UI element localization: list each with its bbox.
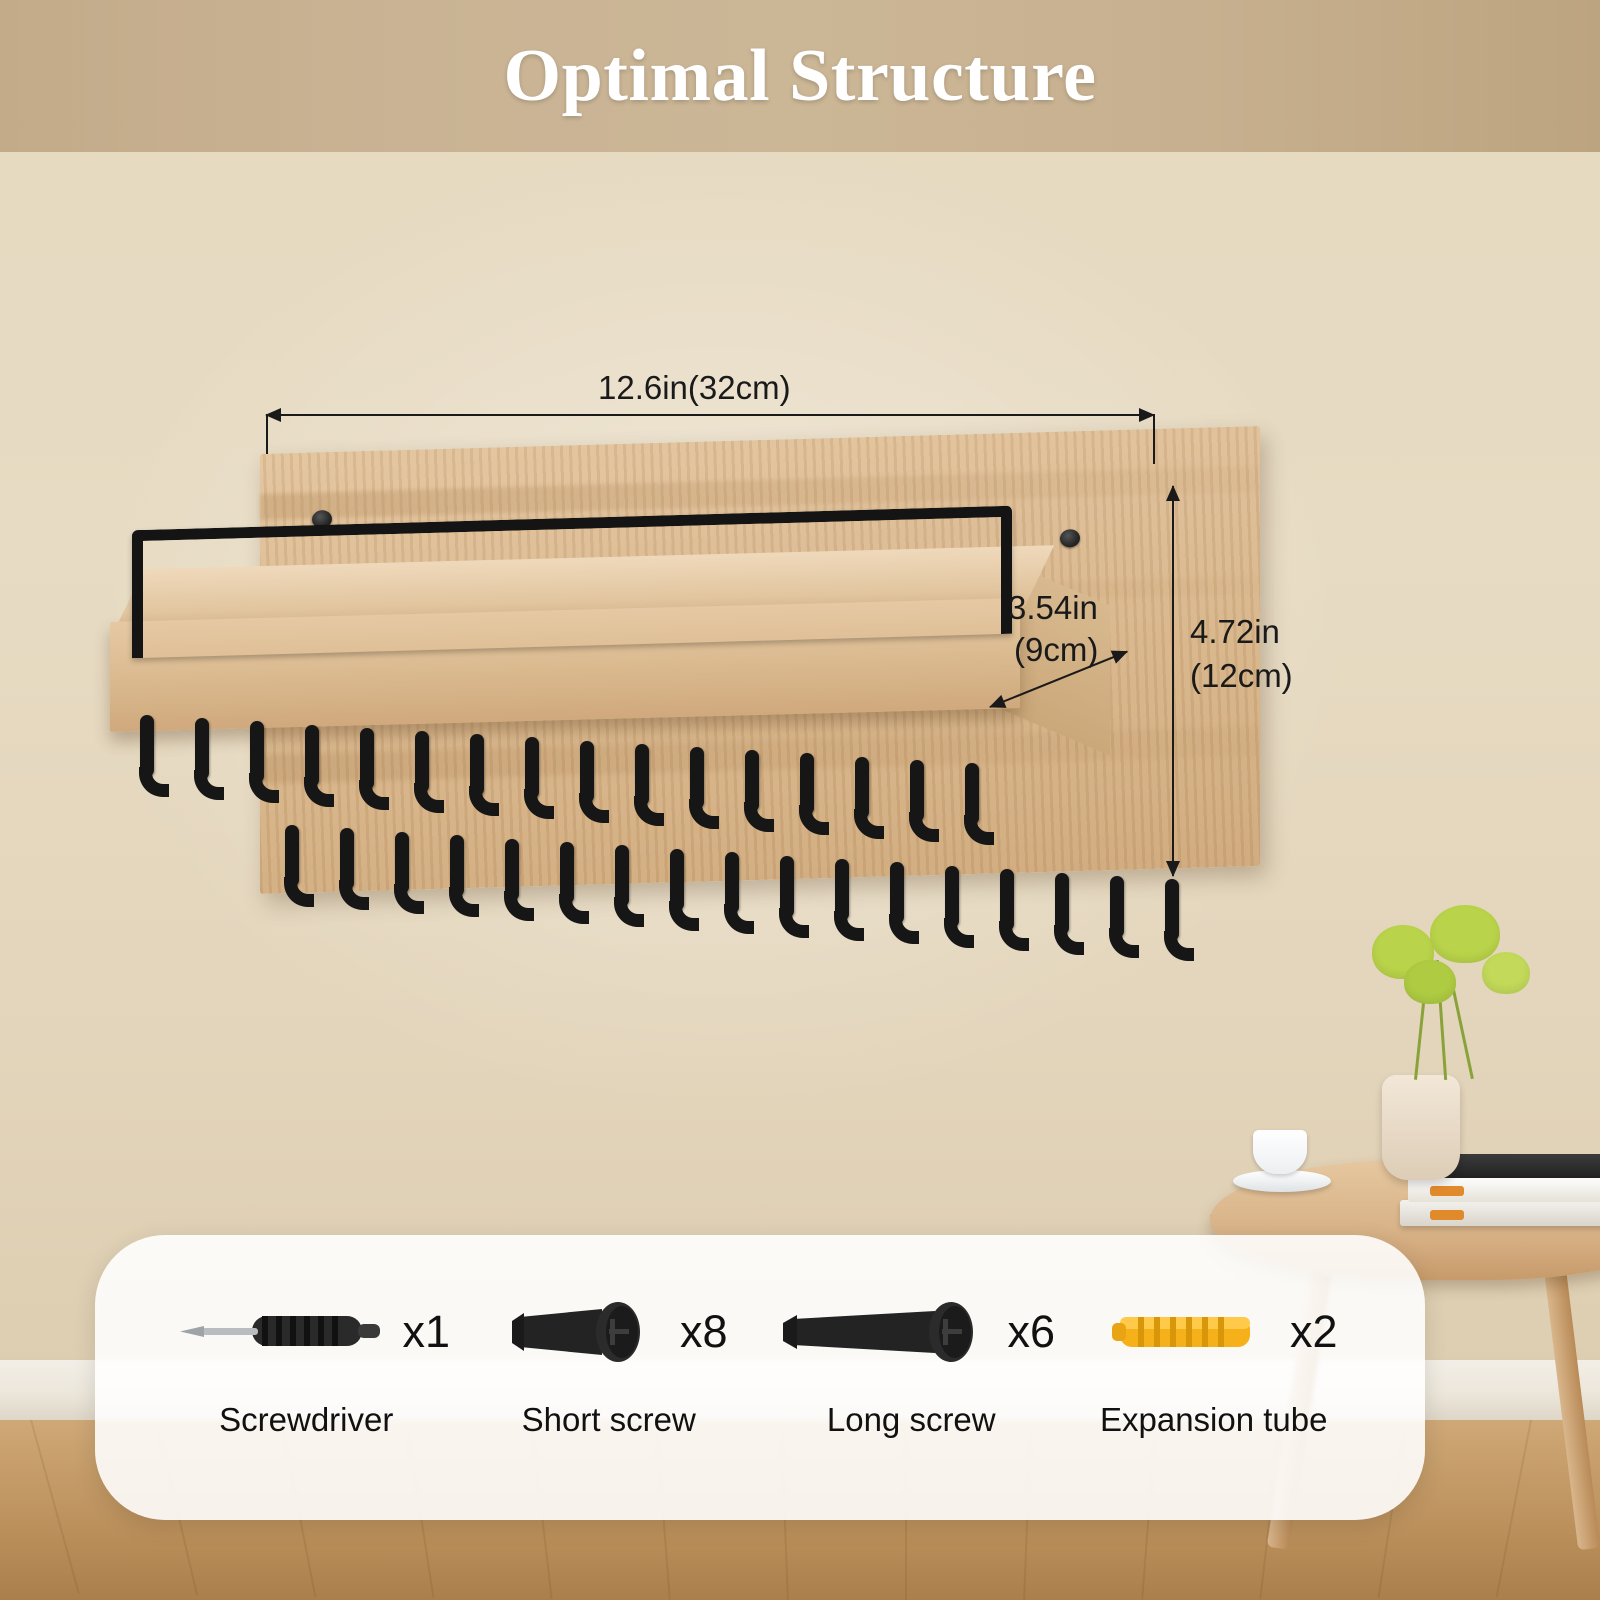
hook-upper bbox=[910, 760, 924, 822]
accessory-expansion-tube-qty: x2 bbox=[1290, 1306, 1338, 1358]
hook-lower bbox=[780, 856, 794, 918]
plant-vase bbox=[1382, 1075, 1460, 1180]
accessory-short-screw-qty: x8 bbox=[680, 1306, 728, 1358]
hook-lower bbox=[670, 849, 684, 911]
dimension-height-arrow bbox=[1172, 486, 1174, 876]
accessory-short-screw: x8 Short screw bbox=[458, 1277, 761, 1439]
dimension-width-arrow bbox=[266, 414, 1154, 416]
hook-lower bbox=[890, 862, 904, 924]
hook-lower bbox=[560, 842, 574, 904]
height-tick-top bbox=[1172, 486, 1174, 488]
accessory-screwdriver-qty: x1 bbox=[402, 1306, 450, 1358]
hook-upper bbox=[745, 750, 759, 812]
accessory-expansion-tube-visual: x2 bbox=[1063, 1277, 1366, 1387]
hook-lower bbox=[725, 852, 739, 914]
hook-lower bbox=[285, 825, 299, 887]
accessory-long-screw-visual: x6 bbox=[760, 1277, 1063, 1387]
header-banner: Optimal Structure bbox=[0, 0, 1600, 152]
hook-lower bbox=[1110, 876, 1124, 938]
hook-lower bbox=[1055, 873, 1069, 935]
hook-upper bbox=[690, 747, 704, 809]
plant-leaf-4 bbox=[1482, 952, 1530, 994]
accessory-short-screw-label: Short screw bbox=[522, 1401, 696, 1439]
accessory-expansion-tube: x2 Expansion tube bbox=[1063, 1277, 1366, 1439]
width-tick-left bbox=[266, 414, 268, 454]
book-accent-stripe bbox=[1430, 1186, 1464, 1196]
hook-lower bbox=[395, 832, 409, 894]
accessory-expansion-tube-label: Expansion tube bbox=[1100, 1401, 1328, 1439]
short-screw-icon bbox=[490, 1297, 670, 1367]
hook-upper bbox=[195, 718, 209, 780]
hook-upper bbox=[360, 728, 374, 790]
hook-upper bbox=[250, 721, 264, 783]
dimension-width-label: 12.6in(32cm) bbox=[598, 368, 791, 408]
hook-lower bbox=[505, 839, 519, 901]
hook-lower bbox=[1000, 869, 1014, 931]
hook-upper bbox=[525, 737, 539, 799]
hook-upper bbox=[800, 753, 814, 815]
plant-leaf-3 bbox=[1404, 960, 1456, 1004]
hook-upper bbox=[415, 731, 429, 793]
accessories-panel: x1 Screwdriver x8 Short screw bbox=[95, 1235, 1425, 1520]
hook-lower bbox=[945, 866, 959, 928]
dimension-height-label-line1: 4.72in bbox=[1190, 612, 1280, 652]
hook-upper bbox=[580, 741, 594, 803]
product-illustration bbox=[110, 430, 1200, 990]
accessory-screwdriver: x1 Screwdriver bbox=[155, 1277, 458, 1439]
accessory-long-screw-label: Long screw bbox=[827, 1401, 996, 1439]
dimension-depth-label-line1: 3.54in bbox=[1008, 588, 1098, 628]
mounting-screw-right bbox=[1060, 529, 1080, 548]
hook-upper bbox=[855, 757, 869, 819]
wood-grain-3 bbox=[260, 726, 1260, 784]
accessory-short-screw-visual: x8 bbox=[458, 1277, 761, 1387]
hook-lower bbox=[835, 859, 849, 921]
accessory-long-screw: x6 Long screw bbox=[760, 1277, 1063, 1439]
accessory-screwdriver-visual: x1 bbox=[155, 1277, 458, 1387]
hook-upper bbox=[305, 725, 319, 787]
metal-guard-rail bbox=[132, 506, 1012, 659]
dimension-height-label-line2: (12cm) bbox=[1190, 656, 1293, 696]
dimension-depth-label-line2: (9cm) bbox=[1014, 630, 1098, 670]
hook-lower bbox=[615, 845, 629, 907]
hook-upper bbox=[470, 734, 484, 796]
long-screw-icon bbox=[767, 1297, 997, 1367]
width-tick-right bbox=[1153, 414, 1155, 464]
accessory-long-screw-qty: x6 bbox=[1007, 1306, 1055, 1358]
page-title: Optimal Structure bbox=[504, 34, 1097, 119]
screwdriver-icon bbox=[162, 1302, 392, 1362]
hook-upper bbox=[140, 715, 154, 777]
accessory-screwdriver-label: Screwdriver bbox=[219, 1401, 393, 1439]
accessories-grid: x1 Screwdriver x8 Short screw bbox=[95, 1235, 1425, 1520]
expansion-tube-icon bbox=[1090, 1297, 1280, 1367]
hook-lower bbox=[450, 835, 464, 897]
hook-upper bbox=[635, 744, 649, 806]
coffee-cup bbox=[1253, 1130, 1307, 1174]
hook-lower bbox=[340, 828, 354, 890]
book-accent-stripe-2 bbox=[1430, 1210, 1464, 1220]
plant-leaf-2 bbox=[1430, 905, 1500, 963]
hook-upper bbox=[965, 763, 979, 825]
hook-lower bbox=[1165, 879, 1179, 941]
